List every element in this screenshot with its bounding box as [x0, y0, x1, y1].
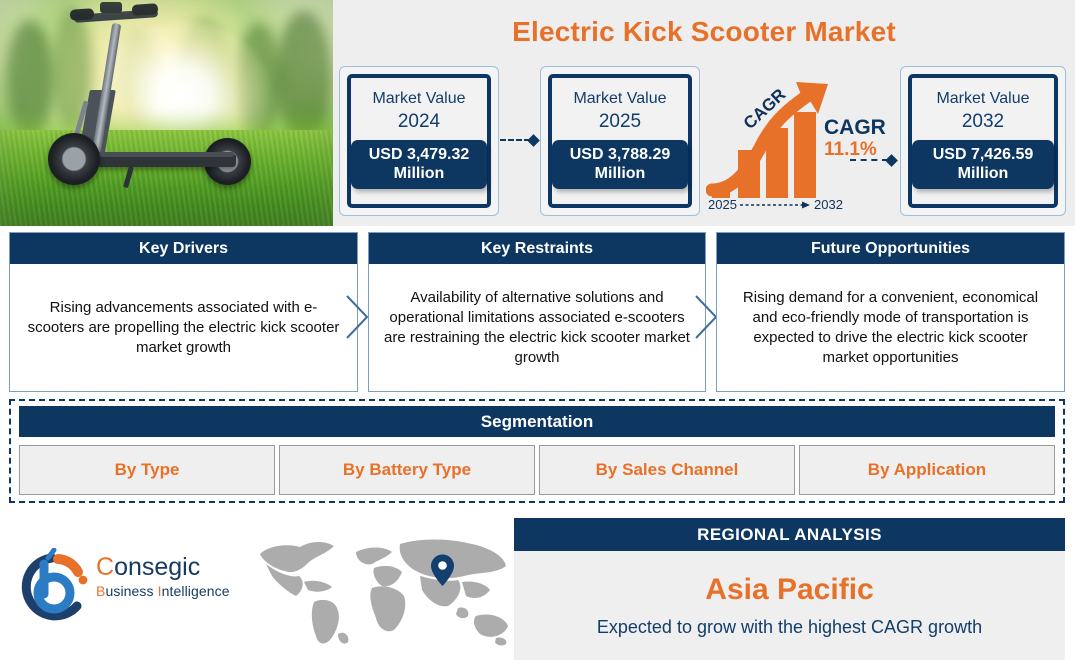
- world-map-icon: [252, 530, 514, 650]
- segmentation-heading: Segmentation: [19, 406, 1055, 437]
- segmentation-item-by-battery-type[interactable]: By Battery Type: [279, 445, 535, 495]
- diamond-marker: [527, 134, 540, 147]
- segmentation-items: By Type By Battery Type By Sales Channel…: [19, 445, 1055, 495]
- cagr-label: CAGR: [824, 116, 886, 139]
- brand-name-rest: onsegic: [114, 553, 200, 581]
- market-value-amount: USD 7,426.59 Million: [912, 140, 1054, 189]
- market-value-year: 2025: [599, 110, 641, 134]
- market-value-label: Market Value: [936, 89, 1029, 109]
- segmentation-item-by-type[interactable]: By Type: [19, 445, 275, 495]
- market-value-label: Market Value: [372, 89, 465, 109]
- market-value-year: 2024: [398, 110, 440, 134]
- card-inner: Market Value 2024 USD 3,479.32 Million: [347, 74, 491, 208]
- market-value-card-2025: Market Value 2025 USD 3,788.29 Million: [540, 66, 700, 216]
- regional-analysis-panel: REGIONAL ANALYSIS Asia Pacific Expected …: [514, 518, 1065, 660]
- tagline-ntelligence: ntelligence: [162, 583, 230, 599]
- future-opportunities-text: Rising demand for a convenient, economic…: [717, 264, 1064, 391]
- cagr-start-year: 2025: [708, 197, 737, 210]
- brand-text: Consegic Business Intelligence: [96, 552, 230, 600]
- key-drivers-box: Key Drivers Rising advancements associat…: [9, 232, 358, 392]
- market-value-card-2032: Market Value 2032 USD 7,426.59 Million: [900, 66, 1066, 216]
- connector-2024-2025: [500, 134, 538, 146]
- segmentation-item-by-application[interactable]: By Application: [799, 445, 1055, 495]
- scooter-hero-image: [0, 0, 333, 226]
- tagline-usiness: usiness: [105, 583, 157, 599]
- card-inner: Market Value 2032 USD 7,426.59 Million: [908, 74, 1058, 208]
- connector-cagr-2032: [850, 154, 896, 166]
- regional-analysis-note: Expected to grow with the highest CAGR g…: [514, 617, 1065, 638]
- brand-name: Consegic: [96, 552, 230, 582]
- card-inner: Market Value 2025 USD 3,788.29 Million: [548, 74, 692, 208]
- market-value-amount: USD 3,479.32 Million: [351, 140, 487, 189]
- future-opportunities-box: Future Opportunities Rising demand for a…: [716, 232, 1065, 392]
- cagr-end-year: 2032: [814, 197, 843, 210]
- future-opportunities-heading: Future Opportunities: [717, 233, 1064, 264]
- diamond-marker: [885, 154, 898, 167]
- key-restraints-heading: Key Restraints: [369, 233, 705, 264]
- market-value-amount: USD 3,788.29 Million: [552, 140, 688, 189]
- regional-analysis-heading: REGIONAL ANALYSIS: [514, 518, 1065, 551]
- key-restraints-box: Key Restraints Availability of alternati…: [368, 232, 706, 392]
- infographic-page: Electric Kick Scooter Market Market Valu…: [0, 0, 1075, 660]
- key-drivers-heading: Key Drivers: [10, 233, 357, 264]
- regional-analysis-region: Asia Pacific: [514, 573, 1065, 607]
- market-value-label: Market Value: [573, 89, 666, 109]
- hero-vignette: [0, 0, 333, 226]
- market-value-year: 2032: [962, 110, 1004, 134]
- brand-name-initial: C: [96, 553, 114, 581]
- market-value-card-2024: Market Value 2024 USD 3,479.32 Million: [339, 66, 499, 216]
- segmentation-item-by-sales-channel[interactable]: By Sales Channel: [539, 445, 795, 495]
- dashed-line: [850, 159, 888, 161]
- dashed-line: [500, 139, 530, 141]
- brand-tagline: Business Intelligence: [96, 582, 230, 600]
- page-title: Electric Kick Scooter Market: [333, 8, 1075, 56]
- key-drivers-text: Rising advancements associated with e-sc…: [10, 264, 357, 391]
- key-restraints-text: Availability of alternative solutions an…: [369, 264, 705, 391]
